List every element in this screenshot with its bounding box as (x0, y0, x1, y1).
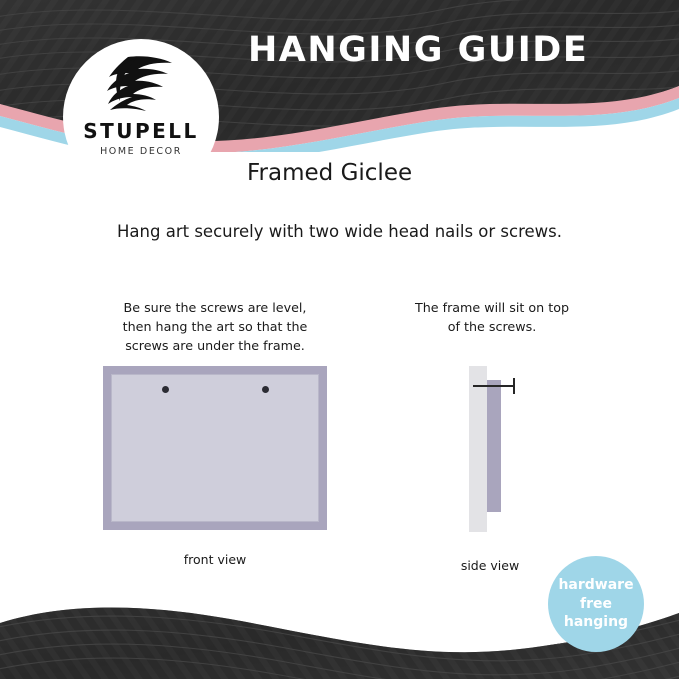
screw-right-icon (262, 386, 269, 393)
frame-profile (487, 380, 501, 512)
stupell-swoosh-icon (98, 55, 184, 117)
side-view-caption-line-1: The frame will sit on top (383, 298, 601, 317)
badge-line-1: hardware (558, 576, 633, 595)
logo-brand-subtitle: HOME DECOR (100, 146, 182, 157)
hanging-guide-page: HANGING GUIDE STUPELL HOME DECOR Framed … (0, 0, 679, 679)
front-view-caption-line-3: screws are under the frame. (95, 336, 335, 355)
badge-line-3: hanging (558, 613, 633, 632)
hanging-instruction-text: Hang art securely with two wide head nai… (0, 222, 679, 241)
logo-brand-name: STUPELL (83, 119, 199, 143)
front-view-caption: Be sure the screws are level, then hang … (95, 298, 335, 355)
brand-logo: STUPELL HOME DECOR (63, 39, 219, 195)
screw-head-icon (513, 378, 515, 394)
side-view-label: side view (405, 558, 575, 573)
screw-left-icon (162, 386, 169, 393)
side-view-caption-line-2: of the screws. (383, 317, 601, 336)
wall-surface (469, 366, 487, 532)
side-view-diagram (455, 366, 535, 532)
front-view-caption-line-1: Be sure the screws are level, (95, 298, 335, 317)
side-view-caption: The frame will sit on top of the screws. (383, 298, 601, 336)
front-view-diagram (103, 366, 327, 530)
front-view-caption-line-2: then hang the art so that the (95, 317, 335, 336)
product-type-label: Framed Giclee (247, 160, 412, 186)
artwork-surface (111, 374, 319, 522)
page-title: HANGING GUIDE (248, 30, 648, 70)
front-view-label: front view (130, 552, 300, 567)
hardware-free-hanging-badge: hardware free hanging (548, 556, 644, 652)
badge-text: hardware free hanging (558, 576, 633, 633)
screw-shaft-icon (473, 385, 515, 387)
badge-line-2: free (558, 595, 633, 614)
